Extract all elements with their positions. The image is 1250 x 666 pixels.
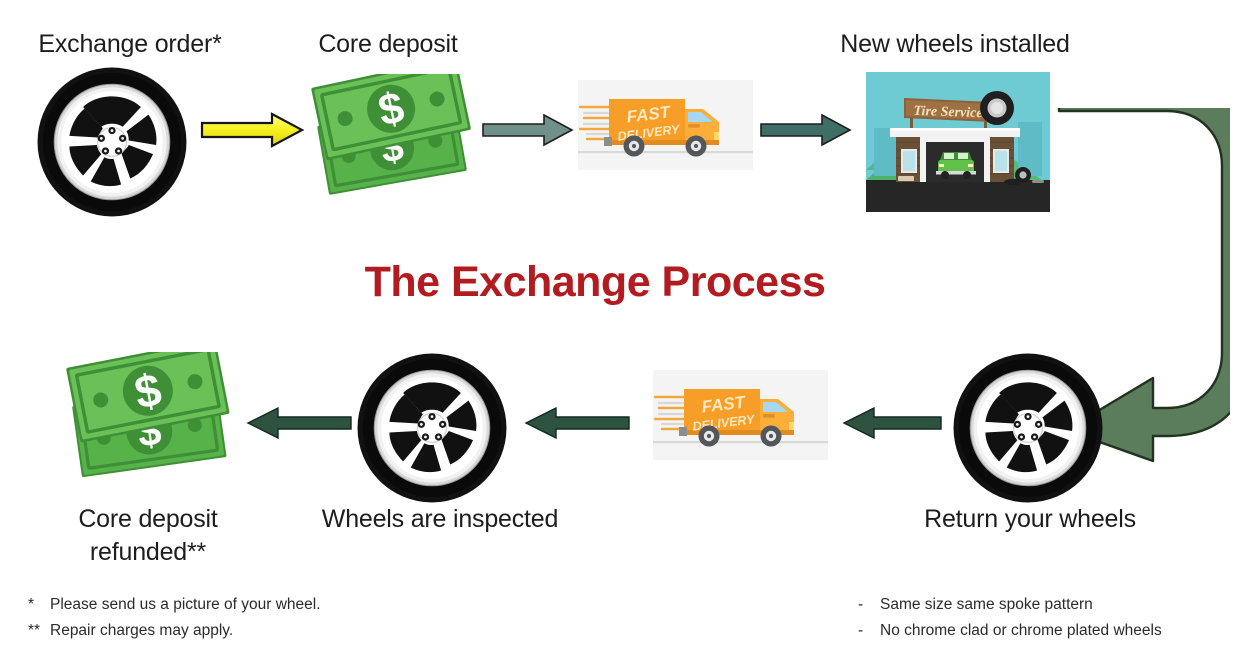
yellow-arrow-right	[200, 110, 305, 150]
label-new-wheels-installed: New wheels installed	[820, 28, 1090, 61]
footnote-left-1: *Please send us a picture of your wheel.	[28, 592, 321, 618]
footnote-text: Please send us a picture of your wheel.	[50, 596, 321, 613]
footnote-text: Repair charges may apply.	[50, 622, 233, 639]
exchange-process-diagram: Exchange order* Core deposit New wheels …	[0, 0, 1250, 666]
cash-money-icon-refund: $ $	[58, 352, 236, 492]
cash-money-icon: $ $	[305, 74, 477, 206]
dark-green-arrow-left-1	[842, 404, 942, 442]
footnote-mark: **	[28, 618, 50, 644]
slate-arrow-right-2	[760, 110, 852, 150]
footnote-mark: *	[28, 592, 50, 618]
footnote-mark: -	[858, 618, 880, 644]
label-wheels-are-inspected: Wheels are inspected	[300, 503, 580, 536]
slate-arrow-right-1	[482, 110, 574, 150]
dark-green-arrow-left-2	[524, 404, 630, 442]
fast-delivery-truck-icon-bottom: FAST DELIVERY	[653, 370, 828, 460]
footnote-right-2: -No chrome clad or chrome plated wheels	[858, 618, 1162, 644]
fast-delivery-truck-icon-top: FAST DELIVERY	[578, 80, 753, 170]
label-return-your-wheels: Return your wheels	[895, 503, 1165, 536]
footnotes-left: *Please send us a picture of your wheel.…	[28, 592, 321, 644]
label-core-deposit-refunded: Core deposit refunded**	[20, 503, 276, 568]
label-exchange-order: Exchange order*	[0, 28, 260, 61]
footnotes-right: -Same size same spoke pattern -No chrome…	[858, 592, 1162, 644]
footnote-mark: -	[858, 592, 880, 618]
tire-service-shop-icon: Tire Service	[866, 72, 1050, 212]
alloy-wheel-icon	[36, 66, 188, 218]
footnote-text: Same size same spoke pattern	[880, 596, 1093, 613]
footnote-right-1: -Same size same spoke pattern	[858, 592, 1162, 618]
page-title: The Exchange Process	[245, 258, 945, 307]
footnote-left-2: **Repair charges may apply.	[28, 618, 321, 644]
alloy-wheel-icon-inspected	[356, 352, 508, 504]
svg-text:Tire Service: Tire Service	[913, 104, 983, 121]
dark-green-arrow-left-3	[246, 404, 352, 442]
footnote-text: No chrome clad or chrome plated wheels	[880, 622, 1162, 639]
alloy-wheel-icon-return	[952, 352, 1104, 504]
label-core-deposit: Core deposit	[258, 28, 518, 61]
